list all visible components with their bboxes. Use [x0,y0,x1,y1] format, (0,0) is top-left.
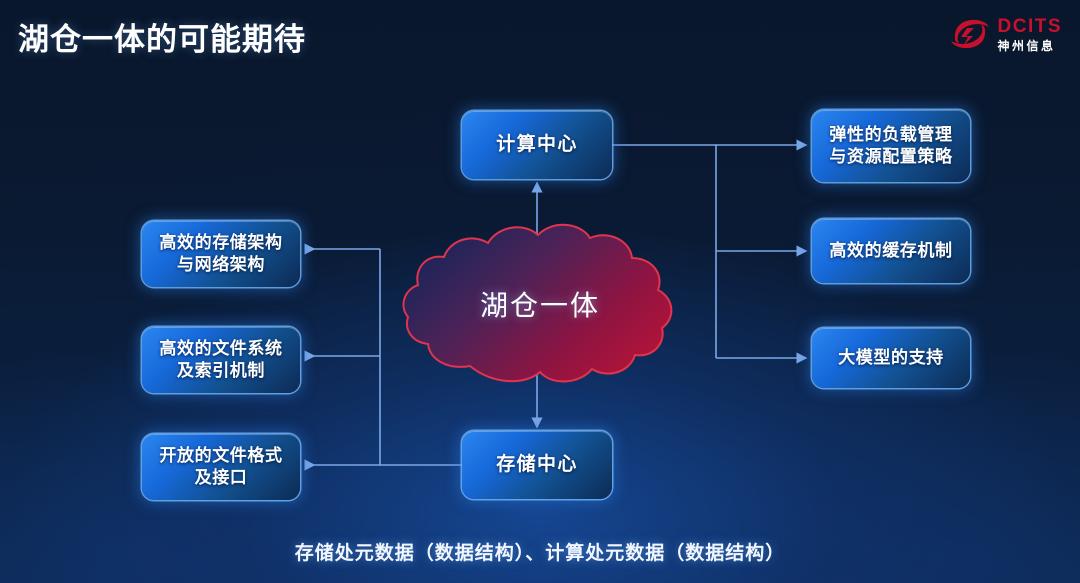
node-right-3[interactable]: 大模型的支持 [812,328,970,388]
node-right-1-label: 弹性的负载管理与资源配置策略 [812,124,970,169]
node-storage-center[interactable]: 存储中心 [462,431,612,499]
node-left-1-label: 高效的存储架构与网络架构 [142,232,300,277]
node-left-3-label: 开放的文件格式及接口 [142,445,300,490]
node-left-2-label: 高效的文件系统及索引机制 [142,338,300,383]
node-left-3[interactable]: 开放的文件格式及接口 [142,434,300,500]
node-storage-center-label: 存储中心 [486,452,588,477]
footer-caption: 存储处元数据（数据结构）、计算处元数据（数据结构） [0,538,1080,565]
node-right-3-label: 大模型的支持 [828,347,954,369]
node-compute-center-label: 计算中心 [486,132,588,157]
node-left-1[interactable]: 高效的存储架构与网络架构 [142,221,300,287]
node-right-2[interactable]: 高效的缓存机制 [812,219,970,283]
node-right-2-label: 高效的缓存机制 [819,240,962,262]
node-compute-center[interactable]: 计算中心 [462,111,612,179]
node-left-2[interactable]: 高效的文件系统及索引机制 [142,327,300,393]
node-right-1[interactable]: 弹性的负载管理与资源配置策略 [812,110,970,182]
slide-canvas: 湖仓一体的可能期待 DCITS 神州信息 [0,0,1080,583]
center-cloud-shape [400,218,680,390]
